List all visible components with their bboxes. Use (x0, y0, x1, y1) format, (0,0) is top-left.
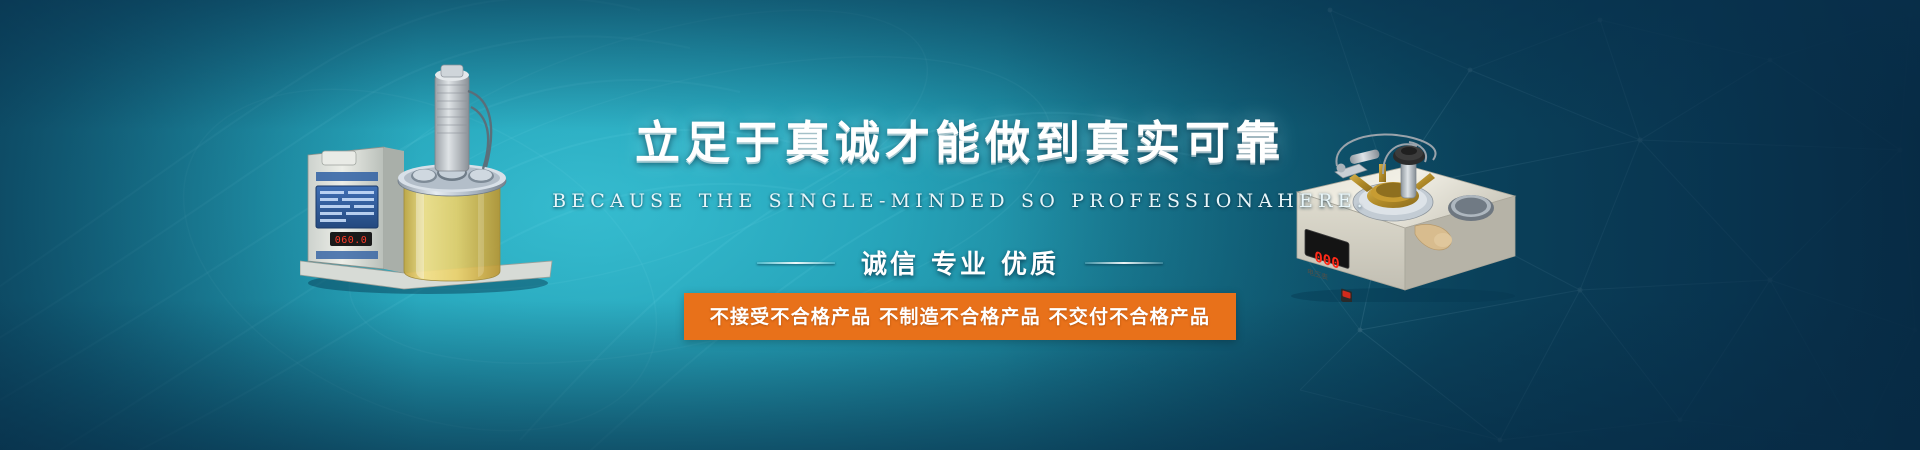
svg-text:电压表: 电压表 (1307, 267, 1328, 282)
svg-text:060.0: 060.0 (335, 235, 368, 246)
flash-point-tester-image: 000 电压表 点火 加热 搅拌 (1283, 130, 1523, 302)
background-top-shade (0, 0, 1920, 130)
promo-banner: 060.0 (0, 0, 1920, 450)
background-bottom-shade (0, 300, 1920, 450)
viscosity-bath-instrument-image: 060.0 (300, 55, 560, 295)
